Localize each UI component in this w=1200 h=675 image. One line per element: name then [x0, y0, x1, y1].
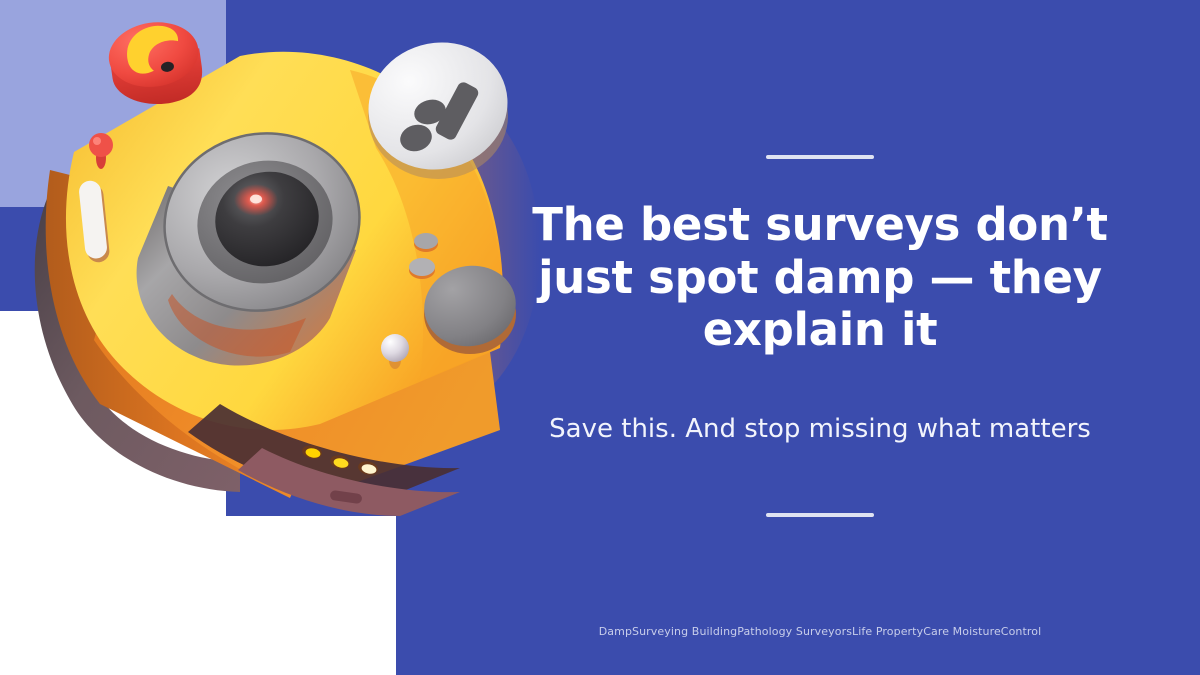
background-block-white-step [226, 516, 396, 675]
subtitle: Save this. And stop missing what matters [490, 413, 1150, 447]
divider-bottom [766, 513, 874, 517]
divider-top [766, 155, 874, 159]
background-block-periwinkle [0, 0, 226, 207]
social-post-slide: The best surveys don’t just spot damp — … [0, 0, 1200, 675]
text-column: The best surveys don’t just spot damp — … [470, 0, 1170, 675]
page-title: The best surveys don’t just spot damp — … [490, 199, 1150, 357]
hashtag-list: DampSurveying BuildingPathology Surveyor… [470, 625, 1170, 638]
background-block-blue-left [0, 207, 152, 311]
